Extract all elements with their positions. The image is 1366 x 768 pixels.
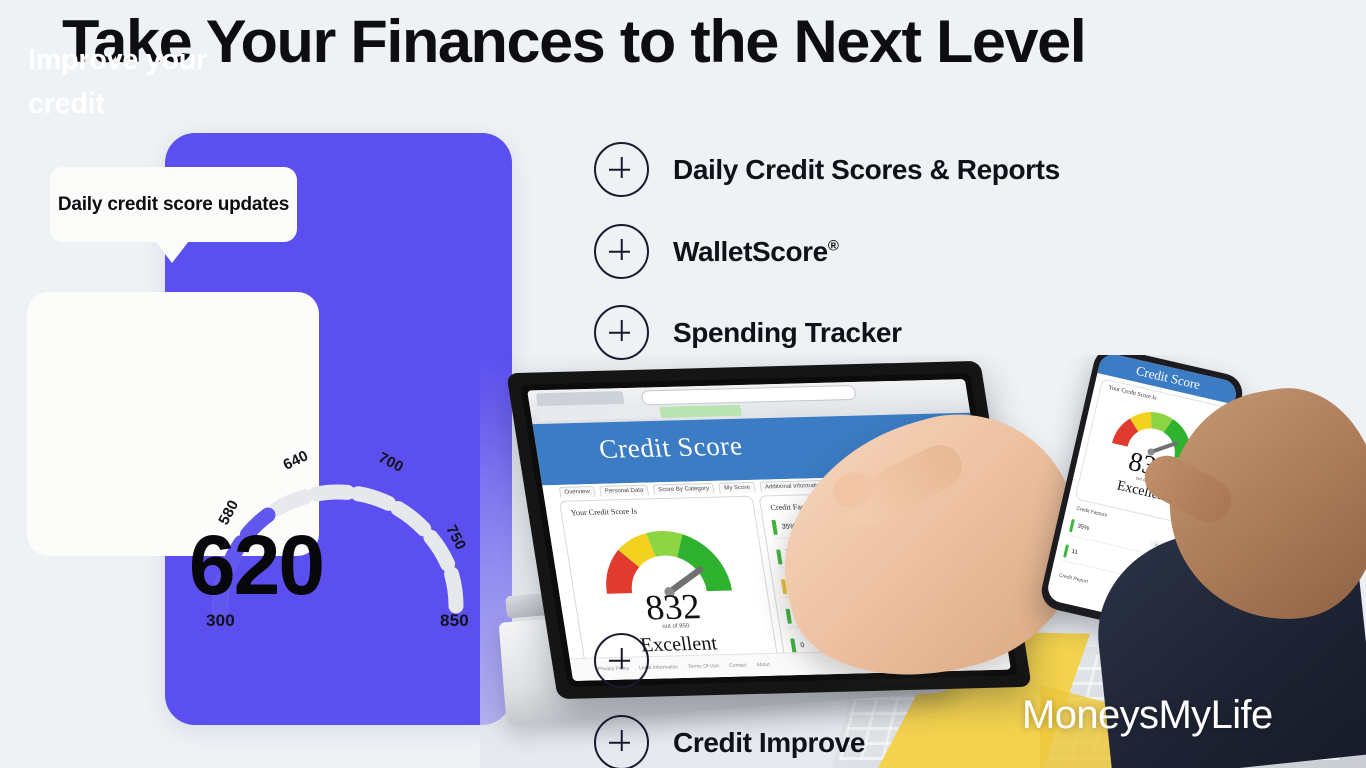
laptop-factors-panel: Credit Factors 35% Payment History 7 yea…: [758, 490, 998, 671]
laptop-factor-row: 0 Derogatory Marks: [790, 630, 987, 657]
laptop-hinge: [505, 590, 592, 619]
phone-factor-row: Credit Report: [1057, 566, 1182, 613]
tab-personal-data[interactable]: Personal Data: [599, 485, 649, 497]
laptop-banner: [533, 413, 980, 486]
factor-name[interactable]: Credit Usage: [934, 606, 977, 617]
plus-icon[interactable]: [594, 715, 649, 768]
headphone: [1080, 467, 1132, 523]
factor-name[interactable]: Payment History: [912, 517, 963, 528]
laptop-factor-row: 35% Payment History: [771, 511, 968, 539]
feature-label: Spending Tracker: [673, 317, 902, 349]
registered-trademark-symbol: ®: [828, 237, 839, 254]
factor-bar: [1069, 518, 1075, 531]
factor-value: 35%: [1077, 523, 1094, 532]
factor-value: 0: [800, 641, 823, 648]
phone-screen: Credit Score Your Credit Score Is 832 ou…: [1045, 355, 1239, 630]
laptop-lid: [506, 361, 1032, 699]
factor-name[interactable]: Age of Credit: [925, 547, 968, 558]
factor-value: 11: [1071, 549, 1088, 558]
feature-item-daily-credit-scores[interactable]: Daily Credit Scores & Reports: [594, 142, 1060, 197]
index-finger: [837, 438, 970, 533]
factor-value: 98%: [795, 612, 818, 619]
laptop-factor-row: 3 Hard Inquiries: [780, 570, 977, 598]
feature-label: Credit Improve: [673, 727, 865, 759]
tab-my-score[interactable]: My Score: [718, 482, 755, 494]
feature-item-spending-tracker[interactable]: Spending Tracker: [594, 305, 902, 360]
laptop-score-gauge: [563, 513, 766, 603]
fingertip: [827, 466, 878, 514]
plus-icon[interactable]: [594, 633, 649, 688]
gauge-tick-max: 850: [440, 611, 469, 631]
factor-name[interactable]: Hard Inquiries: [927, 576, 972, 587]
feature-label-text: WalletScore: [673, 236, 828, 267]
factor-bar: [771, 519, 777, 534]
phone-score-card: Your Credit Score Is 832 out of 850 Exce…: [1074, 378, 1229, 528]
factor-bar: [1063, 544, 1069, 557]
phone-factor-row: 35% Payment History: [1068, 515, 1194, 563]
feature-label: Daily Credit Scores & Reports: [673, 154, 1060, 186]
factor-name[interactable]: Derogatory Marks: [928, 636, 982, 647]
laptop-score-sub: out of 850: [580, 621, 773, 632]
tab-score-by-category[interactable]: Score By Category: [652, 483, 715, 495]
footer-link-about[interactable]: About: [756, 662, 770, 668]
thumb: [1137, 448, 1239, 530]
factor-value: 3: [790, 582, 813, 589]
promo-banner: Take Your Finances to the Next Level Imp…: [0, 0, 1366, 768]
watermark: MoneysMyLife: [1022, 693, 1273, 738]
factor-bar: [790, 638, 796, 653]
feature-item-walletscore[interactable]: WalletScore®: [594, 224, 839, 279]
plus-icon[interactable]: [594, 224, 649, 279]
factor-name[interactable]: Hard Inquiries: [1148, 565, 1184, 582]
factor-value: 35%: [781, 523, 804, 530]
credit-score-value: 620: [0, 523, 512, 607]
browser-toolbar[interactable]: [538, 405, 741, 421]
factor-name[interactable]: Payment History: [1149, 539, 1189, 557]
tab-overview[interactable]: Overview: [559, 486, 596, 498]
browser-chrome: [527, 379, 970, 424]
factor-bar: [776, 549, 782, 564]
factor-bar: [785, 608, 791, 623]
feature-label: WalletScore®: [673, 236, 839, 268]
phone-score-card-title: Your Credit Score Is: [1108, 385, 1157, 402]
phone-body: [1038, 355, 1246, 640]
footer-link-terms[interactable]: Terms Of Use: [688, 663, 720, 670]
laptop-banner-title: Credit Score: [597, 431, 745, 465]
browser-tab[interactable]: [536, 391, 625, 406]
laptop-factor-row: 7 years Age of Credit: [776, 541, 973, 569]
factor-value: 7 years: [785, 549, 809, 563]
browser-address-bar[interactable]: [641, 385, 857, 405]
factor-name[interactable]: Credit Report: [1058, 573, 1088, 586]
phone-factors-title: Credit Factors: [1076, 506, 1108, 519]
footer-link-contact[interactable]: Contact: [729, 663, 747, 669]
pointing-hand: [751, 386, 1108, 709]
holding-hand: [1152, 375, 1366, 638]
tab-additional-information[interactable]: Additional Information: [759, 480, 829, 493]
feature-item-credit-improvement[interactable]: Credit Improve: [594, 715, 865, 768]
plus-icon[interactable]: [594, 305, 649, 360]
laptop-factor-row: 98% Credit Usage: [785, 600, 982, 628]
laptop-base: [499, 587, 958, 726]
phone-score-value: 832: [1083, 436, 1215, 495]
gauge-tick-min: 300: [206, 611, 235, 631]
factor-bar: [781, 579, 787, 594]
phone-score-gauge: [1089, 391, 1223, 470]
phone-score-sub: out of 850: [1083, 463, 1209, 497]
phone-banner-title: Credit Score: [1097, 355, 1238, 404]
laptop-factors-title: Credit Factors: [770, 502, 817, 512]
laptop-tabstrip: Overview Personal Data Score By Category…: [559, 480, 830, 498]
phone-factor-row: 11 Hard Inquiries: [1062, 540, 1188, 588]
laptop-score-panel-title: Your Credit Score Is: [570, 507, 638, 518]
feature-item-occluded[interactable]: [594, 633, 673, 688]
laptop-score-value: 832: [574, 584, 772, 630]
plus-icon[interactable]: [594, 142, 649, 197]
phone-score-rating: Excellent: [1079, 470, 1207, 514]
